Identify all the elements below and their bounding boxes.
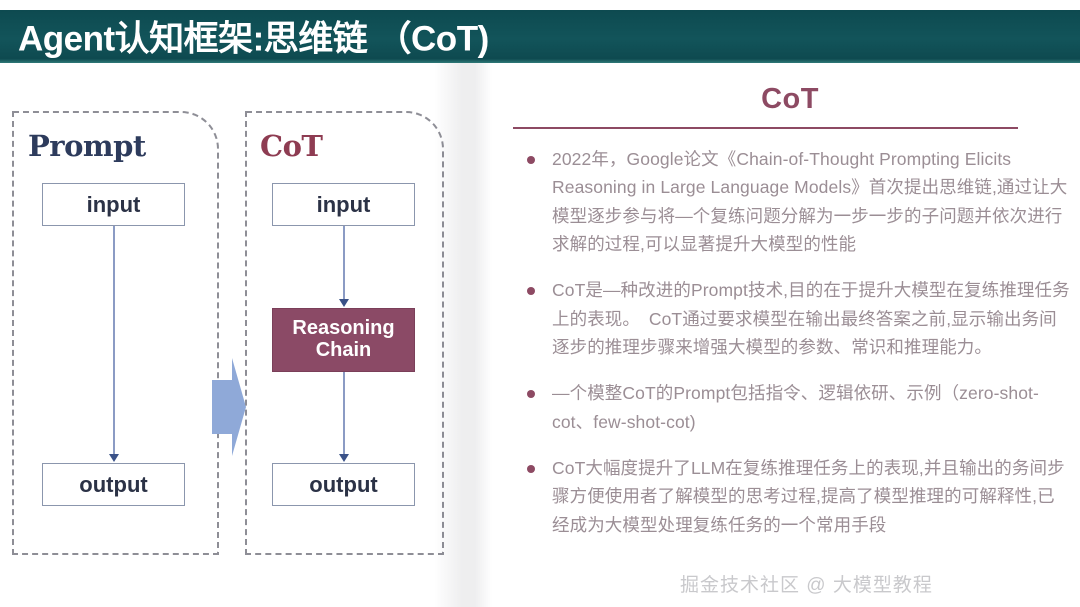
node-label: output xyxy=(309,472,377,498)
watermark: 掘金技术社区 @ 大模型教程 xyxy=(680,570,1060,597)
list-item-text: CoT是—种改进的Prompt技术,目的在于提升大模型在复练推理任务上的表现。 … xyxy=(552,280,1070,357)
connector-cot-reasoning-output xyxy=(343,372,345,455)
node-label: input xyxy=(317,192,371,218)
transition-arrow-icon xyxy=(212,358,246,456)
content-panel: CoT 2022年，Google论文《Chain-of-Thought Prom… xyxy=(500,63,1080,607)
arrowhead-icon xyxy=(339,454,349,462)
page-title: Agent认知框架:思维链 （CoT) xyxy=(18,10,489,61)
list-item-text: —个模整CoT的Prompt包括指令、逻辑依研、示例（zero-shot-cot… xyxy=(552,383,1039,431)
list-item: 2022年，Google论文《Chain-of-Thought Promptin… xyxy=(518,145,1070,258)
list-item-text: 2022年，Google论文《Chain-of-Thought Promptin… xyxy=(552,149,1067,254)
panel-label-cot: CoT xyxy=(260,129,323,163)
bullet-dot-icon xyxy=(527,465,535,473)
connector-prompt-input-output xyxy=(113,226,115,455)
panel-label-prompt: Prompt xyxy=(28,129,146,163)
title-underline xyxy=(513,127,1018,129)
connector-cot-input-reasoning xyxy=(343,226,345,300)
node-label: output xyxy=(79,472,147,498)
node-prompt-output: output xyxy=(42,463,185,506)
node-cot-reasoning-chain: Reasoning Chain xyxy=(272,308,415,372)
arrowhead-icon xyxy=(109,454,119,462)
list-item-text: CoT大幅度提升了LLM在复练推理任务上的表现,并且输出的务间步骤方便使用者了解… xyxy=(552,458,1065,535)
node-label: input xyxy=(87,192,141,218)
arrowhead-icon xyxy=(339,299,349,307)
node-cot-input: input xyxy=(272,183,415,226)
bullet-list: 2022年，Google论文《Chain-of-Thought Promptin… xyxy=(518,145,1070,557)
bullet-dot-icon xyxy=(527,390,535,398)
node-prompt-input: input xyxy=(42,183,185,226)
header-bar: Agent认知框架:思维链 （CoT) xyxy=(0,10,1080,63)
node-label-line2: Chain xyxy=(316,340,372,362)
diagram-area: Prompt input output CoT input Reasoning … xyxy=(0,63,500,607)
list-item: —个模整CoT的Prompt包括指令、逻辑依研、示例（zero-shot-cot… xyxy=(518,379,1070,436)
content-title: CoT xyxy=(500,83,1080,116)
bullet-dot-icon xyxy=(527,156,535,164)
list-item: CoT大幅度提升了LLM在复练推理任务上的表现,并且输出的务间步骤方便使用者了解… xyxy=(518,454,1070,539)
node-label-line1: Reasoning xyxy=(292,318,394,340)
list-item: CoT是—种改进的Prompt技术,目的在于提升大模型在复练推理任务上的表现。 … xyxy=(518,276,1070,361)
node-cot-output: output xyxy=(272,463,415,506)
bullet-dot-icon xyxy=(527,287,535,295)
